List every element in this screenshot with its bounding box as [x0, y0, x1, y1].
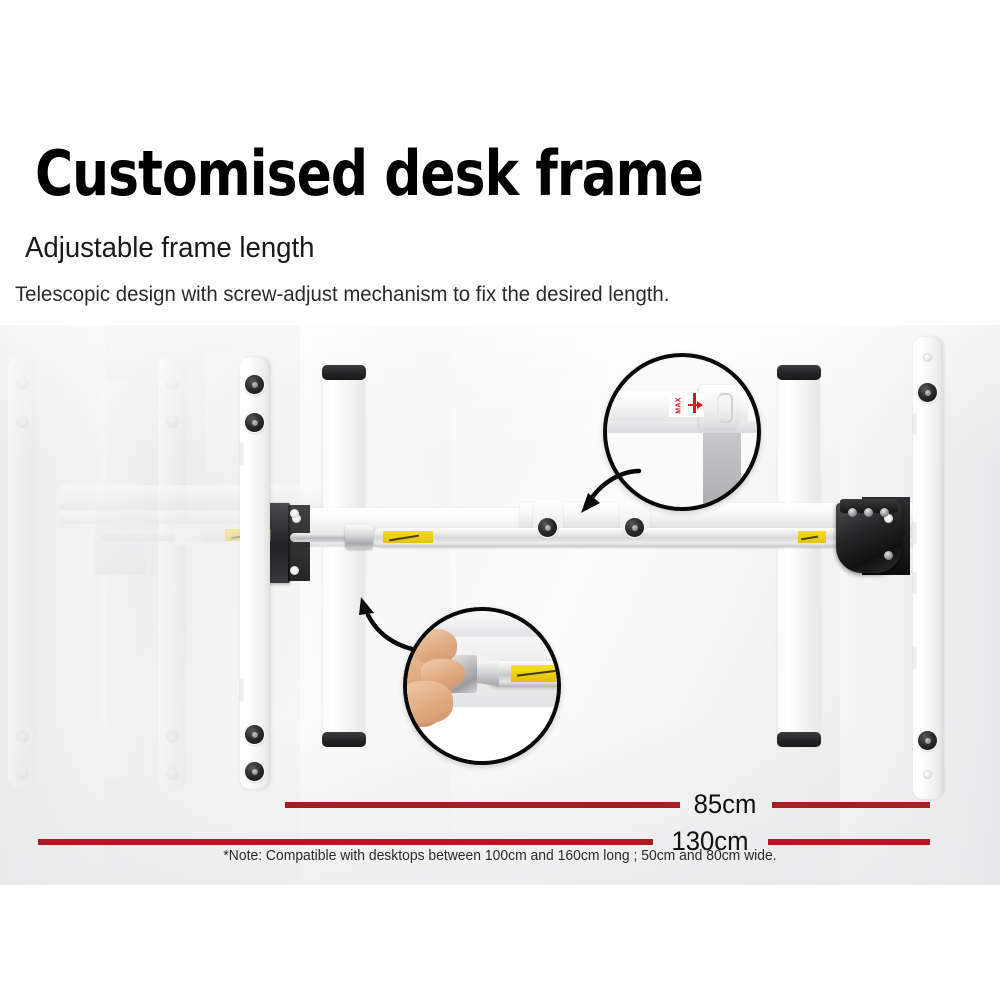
measure-line-85-left [285, 802, 680, 808]
bracket-notch [912, 647, 917, 669]
right-bracket-hole-top [923, 353, 932, 362]
right-leg-foot-bottom [777, 732, 821, 747]
ghost-screw [166, 767, 179, 780]
callout-warning-label [511, 665, 561, 682]
tube-warning-label [383, 531, 433, 543]
left-leg-foot-top [322, 365, 366, 380]
right-leg-column [778, 367, 820, 747]
right-bracket-bolt-top [918, 383, 937, 402]
bracket-notch [239, 679, 244, 701]
telescopic-tube [372, 528, 842, 547]
mount-bolt-hole-top [290, 509, 299, 518]
lead-screw-shaft [290, 533, 350, 542]
callout-screw-adjust [403, 607, 561, 765]
measure-line-130-right [768, 839, 930, 845]
product-feature-image: Customised desk frame Adjustable frame l… [0, 0, 1000, 1000]
page-subtitle: Adjustable frame length [25, 232, 975, 265]
mount-bolt-hole-bottom [290, 566, 299, 575]
callout-grey-shadow [703, 433, 741, 505]
bracket-notch [912, 572, 917, 594]
measure-label-85: 85cm [685, 789, 765, 820]
motor-screw-1 [848, 508, 857, 517]
callout-arrow-top [575, 465, 645, 525]
adjust-nut [345, 525, 373, 549]
bracket-bolt-lower [245, 725, 264, 744]
right-bracket-hole-bottom [923, 770, 932, 779]
ghost-screw [166, 415, 179, 428]
ghost-screw [16, 377, 29, 390]
ghost-screw [16, 730, 29, 743]
ghost-nut [175, 524, 203, 546]
bracket-notch [912, 413, 917, 435]
bracket-notch [239, 443, 244, 465]
bracket-bolt-bottom [245, 762, 264, 781]
left-leg-column [323, 367, 365, 747]
callout-screw-content [407, 611, 557, 761]
bracket-notch [912, 522, 917, 544]
bracket-bolt-upper [245, 413, 264, 432]
max-label-text: MAX [676, 397, 683, 413]
beam-tab-bolt-left [538, 518, 557, 537]
tube-warning-label-right [798, 531, 826, 543]
callout-lower-fingers [403, 681, 453, 723]
right-mounting-bracket [913, 337, 943, 799]
ghost-leg-1 [103, 380, 143, 780]
callout-hook [717, 393, 733, 423]
callout-arrow-bottom [348, 593, 418, 655]
ghost-screw [16, 415, 29, 428]
ghost-screw [16, 767, 29, 780]
measure-line-85-right [772, 802, 930, 808]
max-limit-bar [693, 393, 696, 413]
motor-screw-4 [884, 551, 893, 560]
page-description: Telescopic design with screw-adjust mech… [15, 283, 985, 307]
compatibility-note: *Note: Compatible with desktops between … [20, 848, 980, 864]
product-photo: MAX [0, 325, 1000, 885]
bracket-bolt-top [245, 375, 264, 394]
measure-line-130-left [38, 839, 653, 845]
motor-screw-3 [880, 508, 889, 517]
tube-mount-block [268, 503, 290, 583]
motor-screw-2 [864, 508, 873, 517]
left-leg-foot-bottom [322, 732, 366, 747]
right-leg-foot-top [777, 365, 821, 380]
page-title: Customised desk frame [35, 143, 965, 205]
max-marker-label: MAX [669, 393, 704, 417]
ghost-screw [166, 377, 179, 390]
ghost-screw [166, 730, 179, 743]
right-bracket-bolt-bottom [918, 731, 937, 750]
